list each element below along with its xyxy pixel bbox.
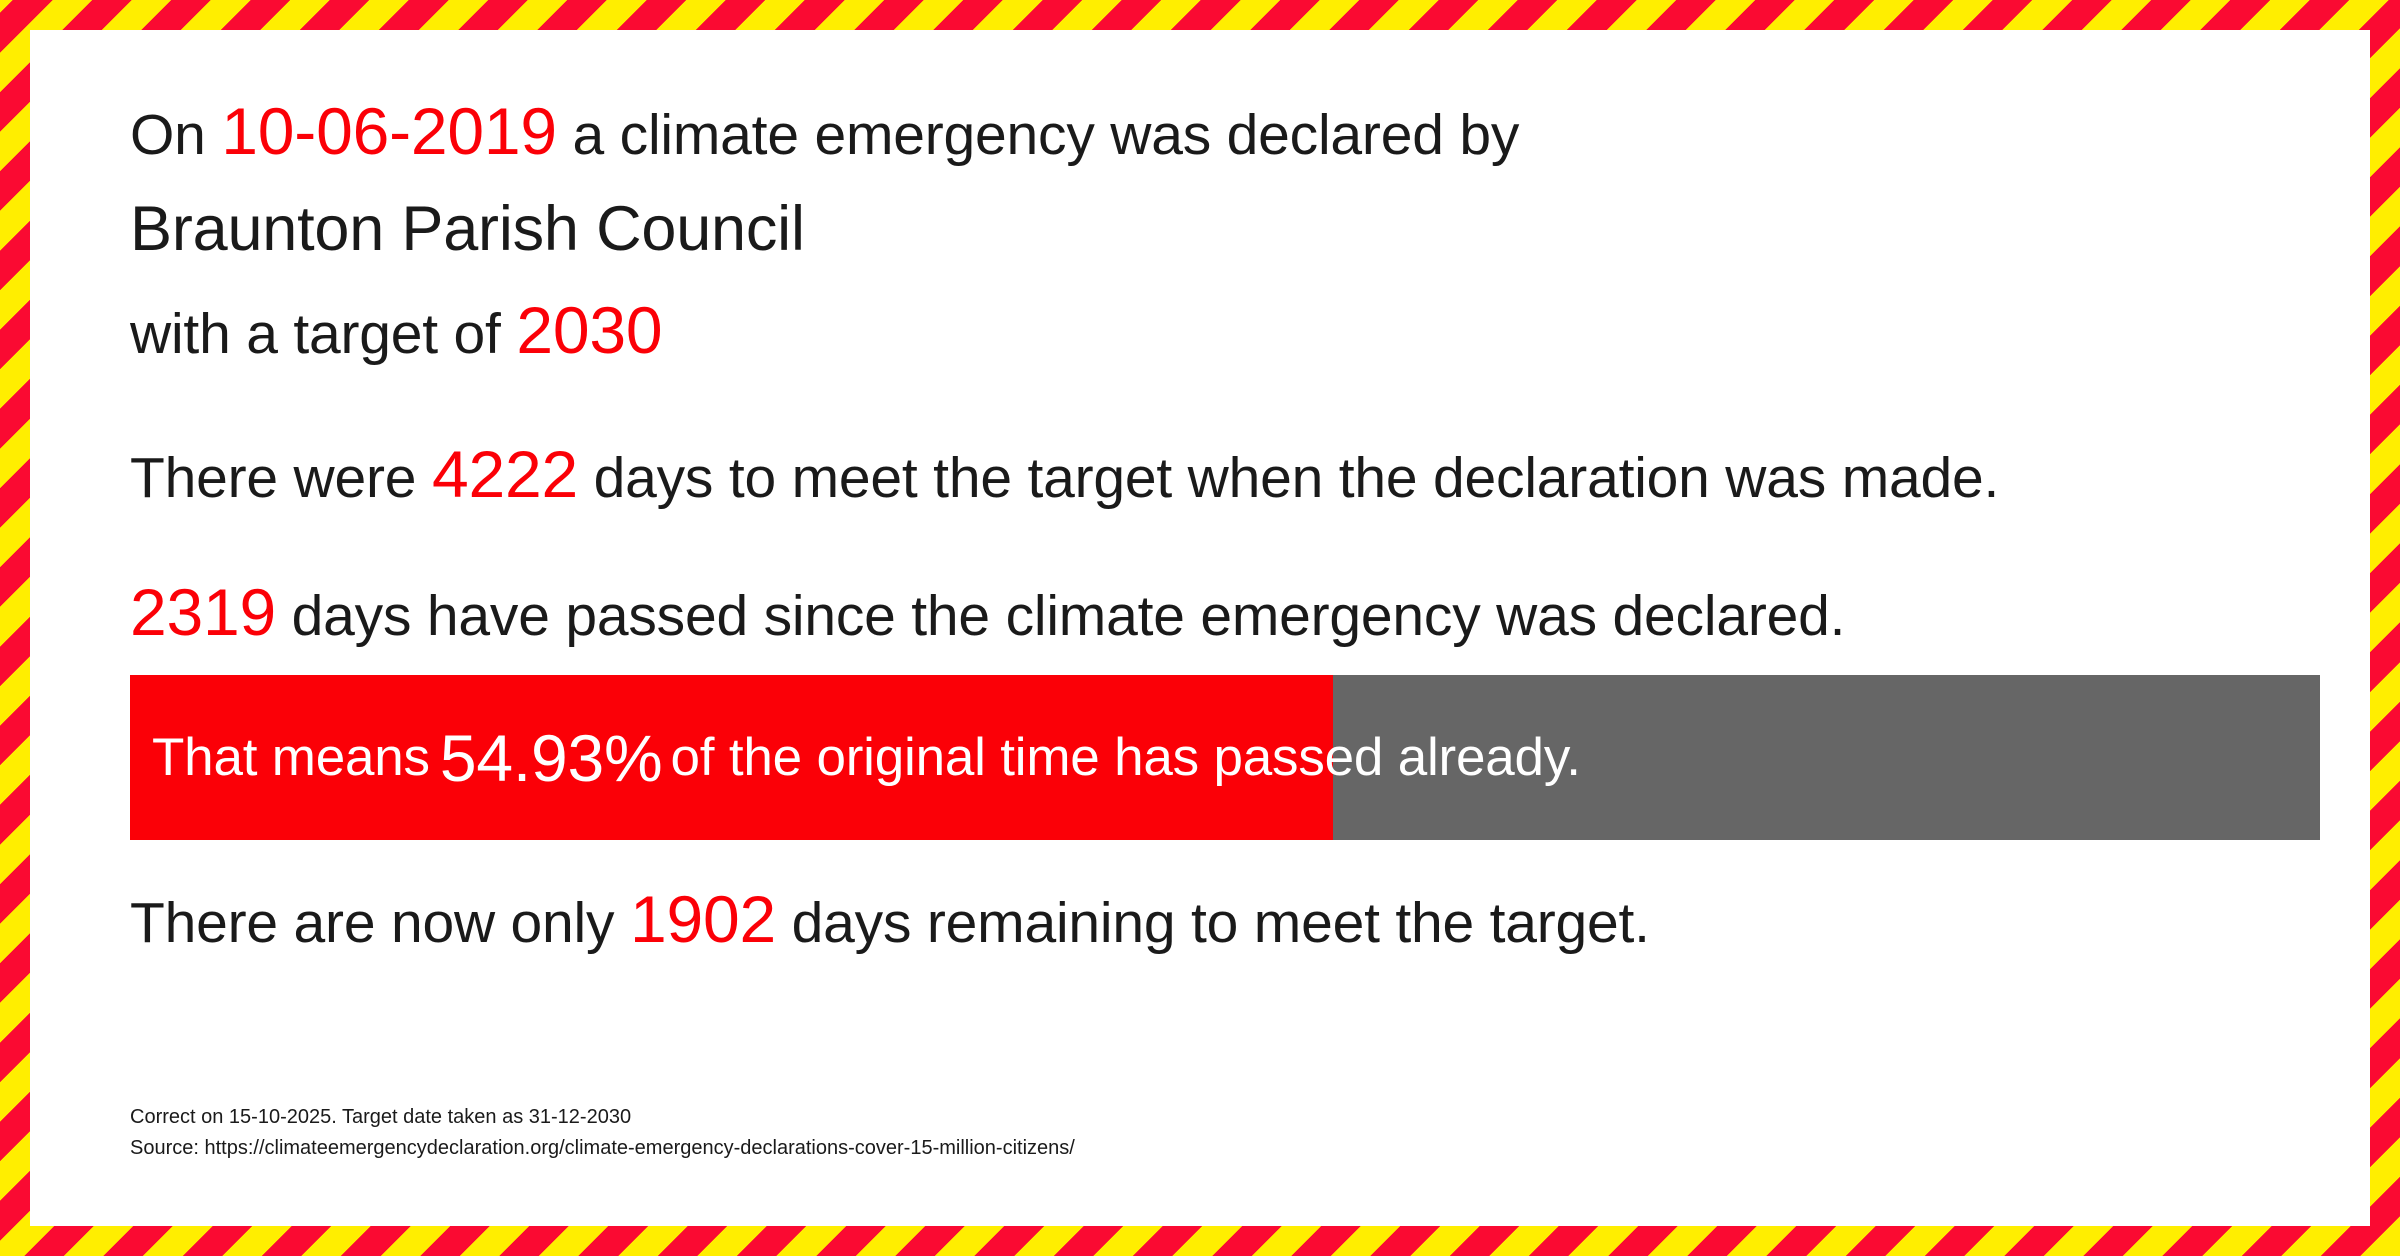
remaining-days-value: 1902 bbox=[630, 882, 776, 956]
progress-bar-track: That means 54.93% of the original time h… bbox=[130, 675, 2320, 840]
declaration-date: 10-06-2019 bbox=[221, 94, 557, 168]
footnotes: Correct on 15-10-2025. Target date taken… bbox=[130, 1102, 1075, 1164]
target-year: 2030 bbox=[516, 293, 662, 367]
original-days-value: 4222 bbox=[432, 437, 578, 511]
content-card: On 10-06-2019 a climate emergency was de… bbox=[30, 30, 2370, 1226]
hazard-border-poster: On 10-06-2019 a climate emergency was de… bbox=[0, 0, 2400, 1256]
declaration-suffix: a climate emergency was declared by bbox=[573, 103, 1520, 167]
footnote-source: Source: https://climateemergencydeclarat… bbox=[130, 1133, 1075, 1164]
elapsed-suffix: days have passed since the climate emerg… bbox=[292, 584, 1846, 648]
progress-label-suffix: of the original time has passed already. bbox=[671, 727, 1581, 788]
declaration-prefix: On bbox=[130, 103, 206, 167]
original-prefix: There were bbox=[130, 446, 416, 510]
elapsed-days-value: 2319 bbox=[130, 575, 276, 649]
progress-label-prefix: That means bbox=[152, 727, 430, 788]
target-line: with a target of 2030 bbox=[30, 297, 2370, 363]
original-days-line: There were 4222 days to meet the target … bbox=[30, 441, 2370, 507]
declaring-authority: Braunton Parish Council bbox=[30, 198, 2370, 261]
footnote-correct-on: Correct on 15-10-2025. Target date taken… bbox=[130, 1102, 1075, 1133]
remaining-days-line: There are now only 1902 days remaining t… bbox=[30, 886, 2370, 952]
progress-bar-label: That means 54.93% of the original time h… bbox=[152, 675, 1581, 840]
elapsed-days-line: 2319 days have passed since the climate … bbox=[30, 579, 2370, 645]
original-suffix: days to meet the target when the declara… bbox=[594, 446, 2000, 510]
target-prefix: with a target of bbox=[130, 302, 501, 366]
progress-percent-value: 54.93% bbox=[430, 720, 671, 796]
remaining-prefix: There are now only bbox=[130, 891, 614, 955]
remaining-suffix: days remaining to meet the target. bbox=[792, 891, 1650, 955]
declaration-headline: On 10-06-2019 a climate emergency was de… bbox=[30, 98, 2370, 164]
